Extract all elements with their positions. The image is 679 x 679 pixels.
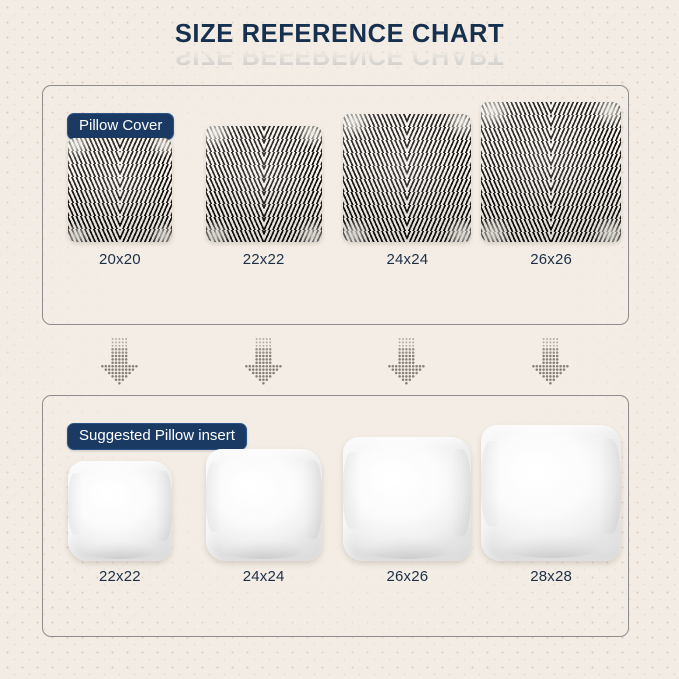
arrow-cell: [479, 336, 623, 388]
pillow-insert-cell: 22x22: [48, 461, 192, 585]
pillow-shading: [222, 465, 278, 508]
pillow-shading: [596, 439, 621, 534]
pillow-cover-image: [68, 138, 172, 242]
pillow-shading: [361, 454, 422, 501]
pillow-insert-image: [343, 437, 471, 561]
pillow-cover-image: [343, 114, 471, 242]
pillow-insert-image: [206, 449, 322, 561]
pillow-cover-size-label: 24x24: [386, 251, 428, 268]
pillow-cover-cell: 26x26: [479, 102, 623, 268]
arrow-row: [48, 336, 623, 388]
pillow-cover-cell: 24x24: [336, 114, 480, 268]
pillow-shading: [213, 530, 315, 559]
arrow-cell: [192, 336, 336, 388]
pillow-shading: [501, 444, 568, 496]
pillow-cover-image: [206, 126, 322, 242]
dotted-down-arrow-icon: [241, 337, 287, 387]
pillow-cover-size-label: 20x20: [99, 251, 141, 268]
page-title: SIZE REFERENCE CHART: [0, 22, 679, 48]
dotted-down-arrow-icon: [528, 337, 574, 387]
dotted-down-arrow-icon: [97, 337, 143, 387]
pillow-shading: [351, 526, 464, 558]
pillow-insert-size-label: 28x28: [530, 568, 572, 585]
pillow-insert-cell: 28x28: [479, 425, 623, 585]
page-title-block: SIZE REFERENCE CHART SIZE REFERENCE CHAR…: [0, 22, 679, 67]
pillow-cover-row: 20x2022x2224x2426x26: [48, 136, 623, 268]
pillow-insert-size-label: 26x26: [386, 568, 428, 585]
pillow-cover-size-label: 22x22: [243, 251, 285, 268]
pillow-insert-cell: 26x26: [336, 437, 480, 585]
pillow-insert-row: 22x2224x2426x2628x28: [48, 450, 623, 585]
pillow-shading: [343, 452, 363, 529]
pillow-cover-size-label: 26x26: [530, 251, 572, 268]
pillow-shading: [481, 441, 503, 525]
pillow-shading: [68, 473, 85, 535]
dotted-down-arrow-icon: [384, 337, 430, 387]
pillow-shading: [74, 533, 166, 559]
pillow-insert-image: [68, 461, 172, 561]
arrow-cell: [48, 336, 192, 388]
pillow-shading: [206, 462, 225, 531]
pillow-insert-badge: Suggested Pillow insert: [67, 423, 247, 450]
pillow-shading: [82, 475, 132, 513]
pillow-shading: [448, 449, 471, 536]
pillow-cover-cell: 22x22: [192, 126, 336, 268]
pillow-shading: [301, 460, 322, 538]
pillow-insert-size-label: 24x24: [243, 568, 285, 585]
size-reference-chart-page: SIZE REFERENCE CHART SIZE REFERENCE CHAR…: [0, 0, 679, 679]
pillow-insert-size-label: 22x22: [99, 568, 141, 585]
pillow-cover-cell: 20x20: [48, 138, 192, 268]
page-title-reflection: SIZE REFERENCE CHART: [0, 49, 679, 67]
pillow-shading: [490, 523, 613, 558]
arrow-cell: [336, 336, 480, 388]
pillow-insert-cell: 24x24: [192, 449, 336, 585]
pillow-insert-image: [481, 425, 621, 561]
pillow-cover-image: [481, 102, 621, 242]
pillow-shading: [153, 471, 172, 541]
